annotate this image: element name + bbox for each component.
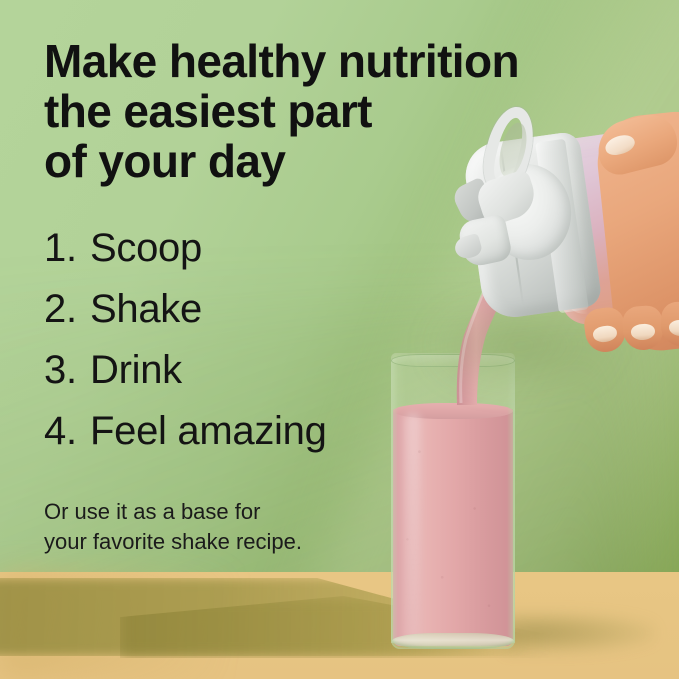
step-number: 2. (44, 289, 90, 329)
step-number: 1. (44, 228, 90, 268)
subtext: Or use it as a base for your favorite sh… (44, 497, 374, 557)
step-label: Shake (90, 289, 202, 329)
step-number: 3. (44, 350, 90, 390)
shaker-bottle: A (455, 110, 679, 355)
glass-base (392, 633, 514, 649)
glass-contact-shadow (505, 612, 655, 654)
step-label: Drink (90, 350, 182, 390)
smoothie-highlight (405, 413, 421, 643)
hand (455, 110, 679, 355)
list-item: 2. Shake (44, 289, 464, 329)
step-number: 4. (44, 411, 90, 451)
list-item: 1. Scoop (44, 228, 464, 268)
step-label: Scoop (90, 228, 202, 268)
step-label: Feel amazing (90, 411, 327, 451)
promo-image: Make healthy nutrition the easiest part … (0, 0, 679, 679)
glass-left-edge (391, 359, 398, 643)
